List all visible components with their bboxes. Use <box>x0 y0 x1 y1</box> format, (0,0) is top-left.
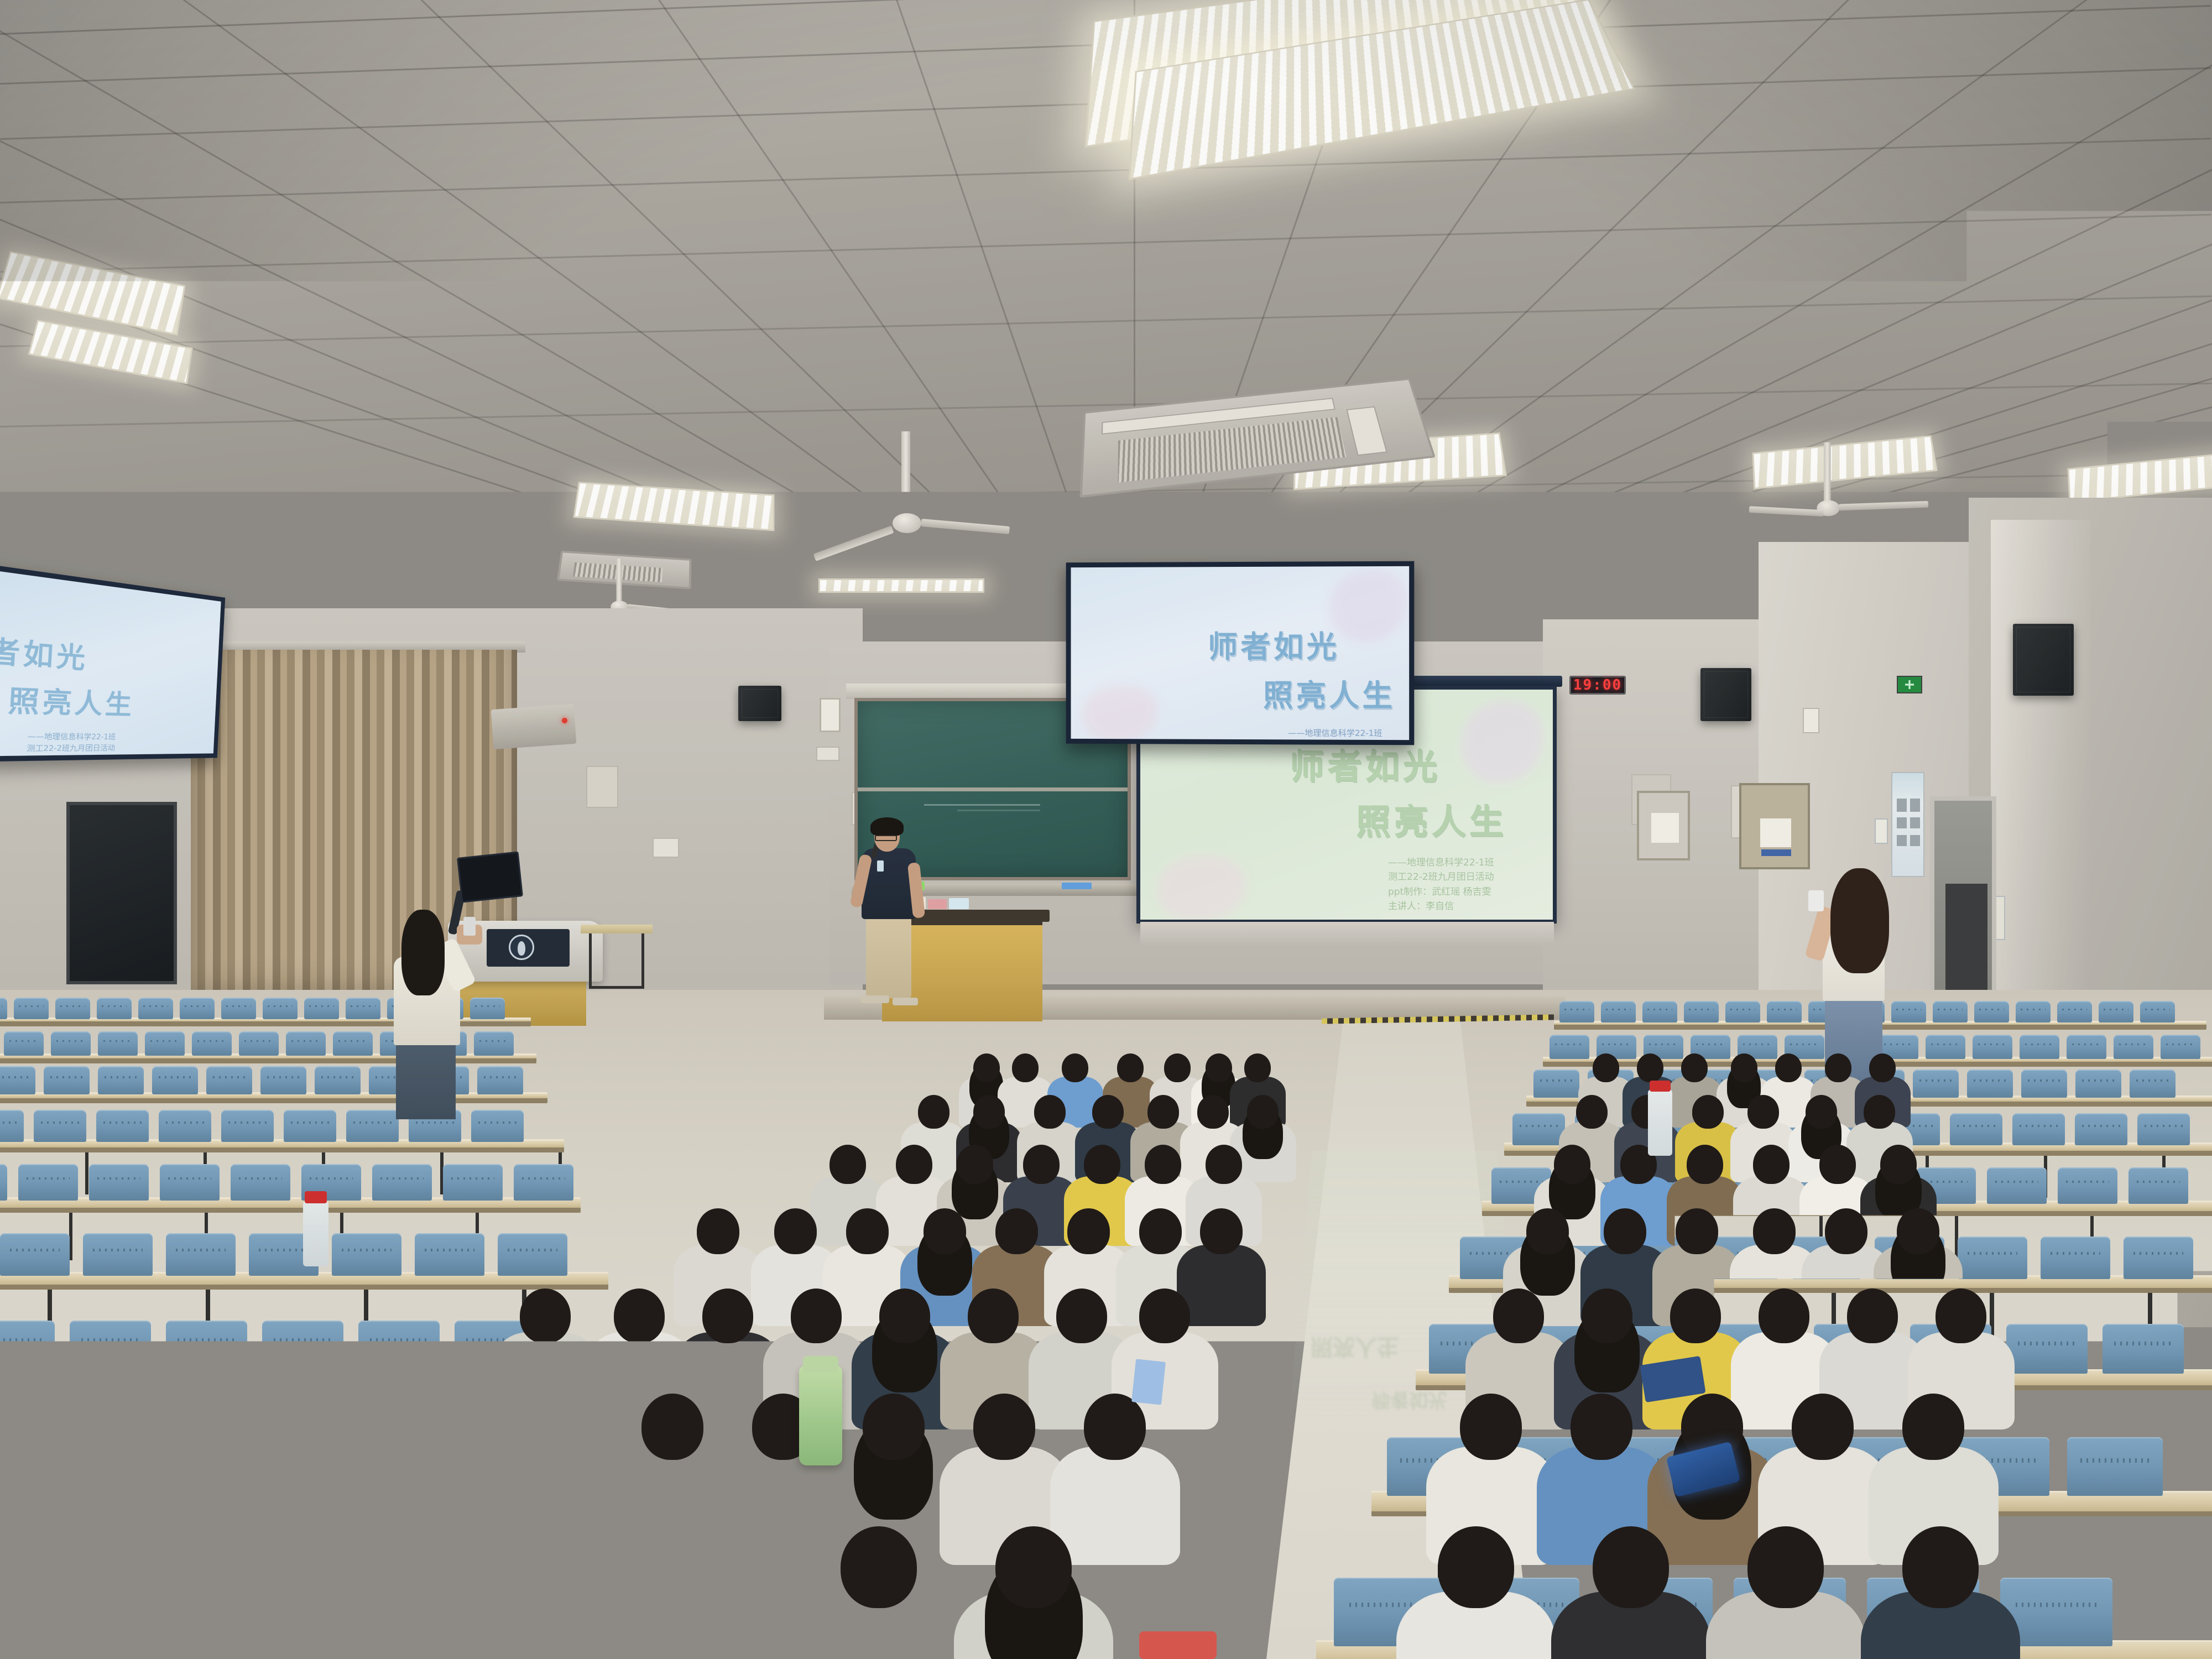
wall-speaker <box>2013 624 2074 696</box>
seat[interactable] <box>239 1031 279 1056</box>
audience-head <box>1747 1526 1824 1608</box>
seat[interactable] <box>145 1031 185 1056</box>
seat[interactable] <box>1684 1001 1719 1022</box>
audience-head <box>1438 1526 1514 1608</box>
seat[interactable] <box>415 1233 484 1276</box>
lapel-badge <box>877 860 884 872</box>
audience-head <box>924 1208 966 1254</box>
seat[interactable] <box>2075 1070 2121 1098</box>
lcd-ceiling-mount <box>1233 530 1248 564</box>
bag-light-green <box>675 1172 758 1233</box>
seat[interactable] <box>1933 1001 1968 1022</box>
seat[interactable] <box>471 1110 524 1142</box>
audience-head <box>1139 1208 1182 1254</box>
digital-wall-clock: 19:00 <box>1569 676 1626 695</box>
seat[interactable] <box>2021 1070 2067 1098</box>
seat[interactable] <box>138 998 173 1019</box>
seat[interactable] <box>2128 1167 2188 1204</box>
seat[interactable] <box>2103 1324 2184 1374</box>
audience-head <box>1670 1288 1721 1343</box>
audience-head <box>1880 1145 1917 1184</box>
audience-head <box>1681 1053 1708 1082</box>
seat[interactable] <box>2067 1437 2163 1496</box>
audience-head <box>1145 1145 1181 1184</box>
audience-head <box>1147 1095 1179 1129</box>
audience-head <box>846 1208 889 1254</box>
slide-decoration <box>1330 570 1408 642</box>
seat[interactable] <box>14 998 49 1019</box>
audience-head <box>1902 1394 1964 1460</box>
photographer-left-hair <box>401 910 445 995</box>
seat[interactable] <box>98 1066 144 1094</box>
presenter-hair <box>870 817 904 836</box>
seat[interactable] <box>1987 1167 2047 1204</box>
clock-time: 19:00 <box>1573 677 1622 693</box>
seat[interactable] <box>315 1066 361 1094</box>
audience-head <box>1460 1394 1522 1460</box>
seat[interactable] <box>231 1164 290 1201</box>
seat[interactable] <box>333 1031 373 1056</box>
presenter-glasses <box>875 835 897 841</box>
slide-decoration <box>1461 701 1544 784</box>
bottle-cap-red <box>1650 1081 1671 1092</box>
audience-head <box>1731 1053 1757 1082</box>
seat[interactable] <box>346 1110 399 1142</box>
seat[interactable] <box>2041 1237 2110 1279</box>
seat[interactable] <box>2099 1001 2133 1022</box>
audience-head <box>1897 1208 1939 1254</box>
notebook-blue <box>1131 1359 1166 1405</box>
seat[interactable] <box>2057 1001 2092 1022</box>
seat[interactable] <box>98 1031 138 1056</box>
audience-head <box>968 1288 1019 1343</box>
audience-head <box>531 1526 607 1608</box>
seat[interactable] <box>152 1066 198 1094</box>
seat[interactable] <box>18 1164 78 1201</box>
slide-title-line2: 照亮人生 <box>7 677 135 722</box>
seat[interactable] <box>498 1233 567 1276</box>
seat[interactable] <box>332 1233 401 1276</box>
wall-speaker <box>1700 668 1751 721</box>
item-light-box <box>949 898 969 909</box>
audience-head <box>1139 1288 1190 1343</box>
audience-head <box>1902 1526 1979 1608</box>
water-bottle-clear <box>1648 1089 1672 1156</box>
audience-head <box>520 1288 571 1343</box>
desk-leg <box>387 1387 392 1452</box>
audience-head <box>1164 1053 1191 1082</box>
audience-head <box>1012 1053 1039 1082</box>
presenter-shoe <box>860 995 889 1003</box>
slide-subtitle: ——地理信息科学22-1班 测工22-2班九月团日活动 ppt制作：武红瑶 杨吉… <box>1288 726 1382 740</box>
item-pink-box <box>928 899 947 909</box>
audience-head <box>1582 1288 1632 1343</box>
audience-head <box>376 1526 452 1608</box>
audience-head <box>702 1288 753 1343</box>
audience-head <box>1526 1208 1569 1254</box>
audience-head <box>1806 1095 1837 1129</box>
seat[interactable] <box>1891 1001 1926 1022</box>
audience-head <box>1576 1095 1608 1129</box>
seat[interactable] <box>2124 1237 2193 1279</box>
chalk-eraser-blue <box>1062 883 1092 889</box>
slide-subtitle: ——地理信息科学22-1班 测工22-2班九月团日活动 ppt制作：武红瑶 杨吉… <box>1388 855 1494 914</box>
seat[interactable] <box>1550 1035 1589 1059</box>
audience-head <box>1753 1208 1796 1254</box>
desk-leg <box>85 1152 88 1194</box>
seat[interactable] <box>166 1321 247 1370</box>
photographer-right-hair <box>1830 868 1889 973</box>
audience-head <box>1847 1288 1898 1343</box>
bottle-cap-green <box>803 1356 838 1373</box>
seat[interactable] <box>1601 1001 1636 1022</box>
seat[interactable] <box>160 1164 220 1201</box>
audience-head <box>1554 1145 1590 1184</box>
seat[interactable] <box>0 1164 7 1201</box>
audience-head <box>896 1145 932 1184</box>
audience-head <box>221 1526 298 1608</box>
audience-torso <box>1177 1245 1266 1326</box>
seat[interactable] <box>2067 1035 2106 1059</box>
seat[interactable] <box>1512 1113 1565 1145</box>
seat[interactable] <box>221 998 256 1019</box>
seat[interactable] <box>192 1031 232 1056</box>
seat[interactable] <box>2161 1035 2200 1059</box>
audience-head <box>1062 1053 1088 1082</box>
ceiling-projector <box>491 704 577 749</box>
seat[interactable] <box>372 1164 432 1201</box>
seat[interactable] <box>166 1233 236 1276</box>
audience-head <box>973 1394 1035 1460</box>
audience-head <box>1869 1053 1896 1082</box>
seat[interactable] <box>4 1031 44 1056</box>
seat[interactable] <box>443 1164 503 1201</box>
seat[interactable] <box>1926 1035 1965 1059</box>
dark-window <box>66 802 177 984</box>
seat[interactable] <box>477 1066 523 1094</box>
seat[interactable] <box>474 1031 514 1056</box>
audience-head <box>1753 1145 1790 1184</box>
seat[interactable] <box>83 1233 153 1276</box>
audience-head <box>1493 1288 1544 1343</box>
seat[interactable] <box>0 1110 24 1142</box>
audience-head <box>77 1526 154 1608</box>
audience-head <box>1692 1095 1724 1129</box>
audience-head <box>1747 1095 1779 1129</box>
wall-box <box>586 766 618 808</box>
wall-poster <box>1875 818 1888 844</box>
slide-subtitle: ——地理信息科学22-1班 测工22-2班九月团日活动 ppt制作：武红瑶 杨吉… <box>25 731 116 757</box>
reflection-title-line2: 照亮人生 <box>1311 1333 1399 1365</box>
side-chair[interactable] <box>589 933 644 989</box>
seat[interactable] <box>1725 1001 1760 1022</box>
slide-title-line2: 照亮人生 <box>1356 794 1507 843</box>
seat[interactable] <box>2006 1324 2088 1374</box>
audience-head <box>1604 1208 1646 1254</box>
reflection-title-line1: 师者如光 <box>1371 1388 1447 1415</box>
smartphone[interactable] <box>463 917 476 936</box>
seat[interactable] <box>89 1164 149 1201</box>
seat[interactable] <box>1967 1070 2013 1098</box>
school-emblem <box>509 935 534 960</box>
seat[interactable] <box>34 1110 86 1142</box>
seat[interactable] <box>159 1110 211 1142</box>
seat[interactable] <box>170 1434 266 1493</box>
audience-head <box>420 1394 482 1460</box>
seat[interactable] <box>0 1233 70 1276</box>
seat[interactable] <box>260 1066 306 1094</box>
audience-head <box>995 1526 1072 1608</box>
seat[interactable] <box>470 998 505 1019</box>
audience-head <box>1687 1145 1723 1184</box>
audience-head <box>918 1095 950 1129</box>
audience-head <box>1023 1145 1060 1184</box>
seat[interactable] <box>2016 1001 2051 1022</box>
light-switch-plate[interactable] <box>816 747 839 761</box>
audience-head <box>310 1394 372 1460</box>
audience-head <box>1206 1053 1232 1082</box>
seat[interactable] <box>1973 1035 2012 1059</box>
audience-head <box>1247 1095 1279 1129</box>
projector-power-led <box>562 718 567 723</box>
audience-head <box>1819 1145 1856 1184</box>
seat[interactable] <box>2020 1035 2059 1059</box>
center-hanging-lcd: 师者如光 照亮人生 ——地理信息科学22-1班 测工22-2班九月团日活动 pp… <box>1066 561 1415 745</box>
audience-head <box>1056 1288 1107 1343</box>
audience-head <box>1197 1095 1229 1129</box>
seat[interactable] <box>1559 1001 1594 1022</box>
audience-head <box>1792 1394 1854 1460</box>
notebook-dark <box>453 1485 549 1524</box>
audience-head <box>614 1288 665 1343</box>
notice-board <box>1739 783 1810 869</box>
seat[interactable] <box>96 1110 149 1142</box>
seat[interactable] <box>0 1066 35 1094</box>
audience-head <box>531 1394 593 1460</box>
seat[interactable] <box>1533 1070 1579 1098</box>
seat[interactable] <box>51 1031 91 1056</box>
seat[interactable] <box>514 1164 573 1201</box>
seat[interactable] <box>44 1066 90 1094</box>
audience-head <box>774 1208 817 1254</box>
seat[interactable] <box>2130 1070 2176 1098</box>
seat[interactable] <box>358 1321 440 1370</box>
audience-head <box>1084 1394 1146 1460</box>
console-monitor[interactable] <box>457 851 523 902</box>
slide-title-line1: 师者如光 <box>0 624 89 676</box>
audience-head <box>641 1394 703 1460</box>
audience-head <box>686 1526 762 1608</box>
seat[interactable] <box>221 1110 274 1142</box>
seat[interactable] <box>180 998 215 1019</box>
audience-head <box>995 1208 1038 1254</box>
seat[interactable] <box>2137 1113 2190 1145</box>
seat[interactable] <box>0 1574 20 1643</box>
audience-head <box>1244 1053 1271 1082</box>
bottle-cap-red <box>305 1191 327 1203</box>
seat[interactable] <box>57 1434 153 1493</box>
audience-head <box>791 1288 842 1343</box>
slide-title-line1: 师者如光 <box>1208 622 1339 666</box>
audience-head <box>1676 1208 1718 1254</box>
seat[interactable] <box>2140 1001 2175 1022</box>
side-table <box>581 925 653 933</box>
audience-head <box>1200 1208 1243 1254</box>
audience-head <box>830 1145 866 1184</box>
seat[interactable] <box>1642 1001 1677 1022</box>
audience-head <box>863 1394 925 1460</box>
ceiling-light-panel <box>818 578 984 593</box>
seat[interactable] <box>1974 1001 2009 1022</box>
audience-head <box>1067 1208 1110 1254</box>
audience-head <box>1593 1053 1619 1082</box>
audience-torso <box>1050 1447 1180 1565</box>
seat[interactable] <box>2075 1113 2127 1145</box>
slide-decoration <box>1082 686 1158 740</box>
seat[interactable] <box>206 1066 252 1094</box>
seat[interactable] <box>70 1321 151 1370</box>
water-bottle-green <box>799 1366 842 1465</box>
audience-head <box>1825 1208 1867 1254</box>
notice-board <box>1637 791 1690 860</box>
wall-poster <box>1891 772 1924 877</box>
wall-sensor <box>1803 708 1819 733</box>
audience-head <box>1571 1394 1632 1460</box>
audience-head <box>1825 1053 1851 1082</box>
seat[interactable] <box>97 998 132 1019</box>
exit-sign <box>1897 676 1922 693</box>
audience-head <box>1034 1095 1066 1129</box>
seat[interactable] <box>1913 1070 1959 1098</box>
photographer-left-skirt <box>396 1042 456 1119</box>
seat[interactable] <box>1767 1001 1802 1022</box>
audience-head <box>1117 1053 1144 1082</box>
audience-head <box>879 1288 930 1343</box>
shoe-red <box>1139 1631 1217 1659</box>
audience-head <box>841 1526 917 1608</box>
audience-head <box>1759 1288 1809 1343</box>
outlet-plate[interactable] <box>653 838 679 858</box>
slide-title-line1: 师者如光 <box>1290 738 1441 788</box>
seat[interactable] <box>262 1321 343 1370</box>
audience-head <box>1092 1095 1124 1129</box>
audience-head <box>973 1053 1000 1082</box>
lecture-hall-photo: 师者如光 照亮人生 ——地理信息科学22-1班 测工22-2班九月团日活动 pp… <box>0 0 2212 1659</box>
seat[interactable] <box>0 1321 55 1370</box>
smartphone[interactable] <box>1808 890 1824 911</box>
seat[interactable] <box>1950 1113 2002 1145</box>
presenter-shoe <box>893 998 918 1005</box>
audience-head <box>957 1145 993 1184</box>
slide-title-line2: 照亮人生 <box>1263 671 1395 715</box>
water-bottle-clear <box>303 1201 328 1266</box>
seat[interactable] <box>2012 1113 2065 1145</box>
audience-head <box>1864 1095 1895 1129</box>
seat[interactable] <box>0 998 7 1019</box>
seat[interactable] <box>2114 1035 2153 1059</box>
audience-head <box>1936 1288 1986 1343</box>
seat[interactable] <box>263 998 298 1019</box>
wall-speaker <box>738 686 781 721</box>
presenter-pants <box>866 915 911 998</box>
seat[interactable] <box>55 998 90 1019</box>
seat[interactable] <box>0 1434 39 1493</box>
seat[interactable] <box>1958 1237 2027 1279</box>
audience-head <box>1084 1145 1120 1184</box>
wall-notice-small <box>820 698 841 732</box>
slide-decoration <box>1157 855 1245 920</box>
seat[interactable] <box>286 1031 326 1056</box>
seat[interactable] <box>2058 1167 2117 1204</box>
audience-head <box>1206 1145 1242 1184</box>
audience-head <box>1637 1053 1663 1082</box>
audience-head <box>1593 1526 1669 1608</box>
audience-head <box>973 1095 1005 1129</box>
seat[interactable] <box>304 998 339 1019</box>
seat[interactable] <box>346 998 380 1019</box>
seat[interactable] <box>284 1110 336 1142</box>
audience-head <box>1775 1053 1802 1082</box>
projection-screen-apron <box>1140 922 1554 946</box>
